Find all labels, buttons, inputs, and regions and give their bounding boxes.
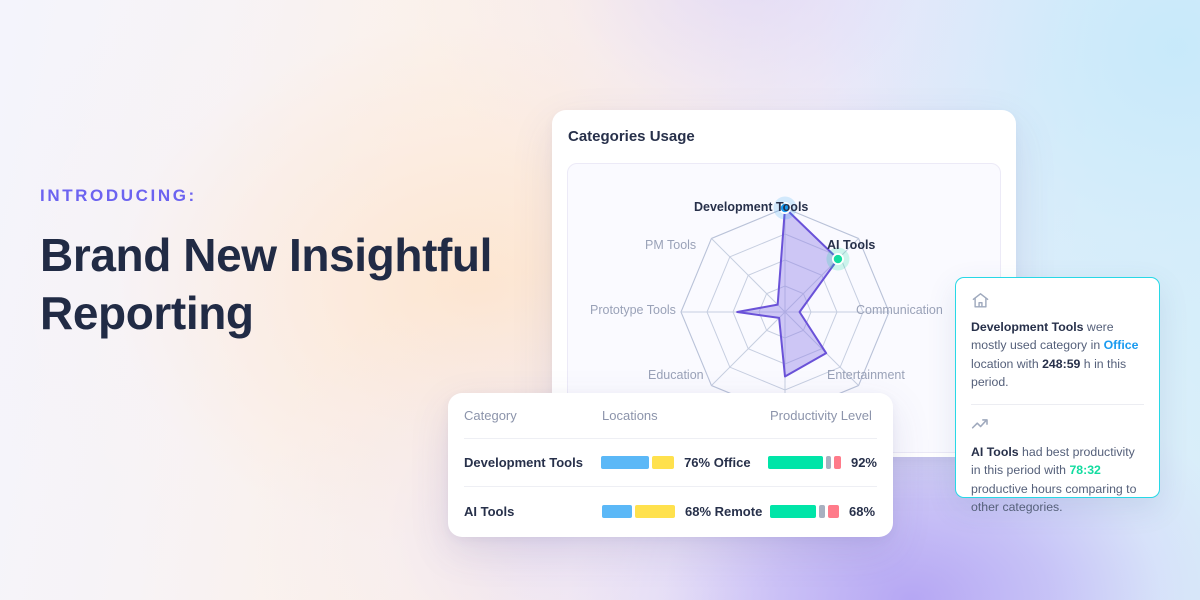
column-header-category: Category: [464, 408, 602, 423]
insight-location-place: Office: [1104, 338, 1139, 352]
productivity-bar: [768, 456, 841, 469]
insight-productivity: AI Tools had best productivity in this p…: [971, 416, 1144, 517]
headline-line-1: Brand New Insightful: [40, 226, 540, 284]
categories-table-card: Category Locations Productivity Level De…: [448, 393, 893, 537]
hero-copy: INTRODUCING: Brand New Insightful Report…: [40, 186, 540, 343]
home-icon: [971, 291, 1144, 311]
locations-label: 76% Office: [684, 455, 750, 470]
locations-label: 68% Remote: [685, 504, 762, 519]
trending-up-icon: [971, 416, 1144, 436]
radar-axis-label-development-tools: Development Tools: [694, 200, 808, 214]
table-row[interactable]: Development Tools 76% Office 92%: [464, 439, 877, 487]
column-header-locations: Locations: [602, 408, 770, 423]
radar-axis-label-pm-tools: PM Tools: [645, 238, 696, 252]
cell-category: Development Tools: [464, 455, 601, 470]
productivity-segment-neutral: [826, 456, 831, 469]
productivity-segment-productive: [770, 505, 816, 518]
locations-segment-remote: [635, 505, 675, 518]
insight-productivity-category: AI Tools: [971, 445, 1019, 459]
cell-category: AI Tools: [464, 504, 602, 519]
cell-locations: 76% Office: [601, 455, 768, 470]
insight-location-mid2: location with: [971, 357, 1042, 371]
insight-productivity-text: AI Tools had best productivity in this p…: [971, 443, 1144, 517]
locations-bar: [602, 505, 675, 518]
productivity-segment-productive: [768, 456, 823, 469]
productivity-label: 92%: [851, 455, 877, 470]
card-title: Categories Usage: [568, 128, 695, 145]
insights-tooltip-card: Development Tools were mostly used categ…: [955, 277, 1160, 498]
productivity-label: 68%: [849, 504, 875, 519]
productivity-bar: [770, 505, 839, 518]
insight-productivity-tail: productive hours comparing to other cate…: [971, 482, 1136, 514]
table-header-row: Category Locations Productivity Level: [464, 393, 877, 439]
table-row[interactable]: AI Tools 68% Remote 68%: [464, 487, 877, 535]
insight-location: Development Tools were mostly used categ…: [971, 291, 1144, 392]
locations-bar: [601, 456, 674, 469]
insight-divider: [971, 404, 1144, 405]
cell-productivity: 92%: [768, 455, 877, 470]
insight-productivity-hours: 78:32: [1069, 463, 1100, 477]
hero-eyebrow: INTRODUCING:: [40, 186, 540, 206]
insight-location-category: Development Tools: [971, 320, 1084, 334]
productivity-segment-unproductive: [828, 505, 839, 518]
locations-segment-office: [602, 505, 632, 518]
locations-segment-office: [601, 456, 649, 469]
radar-axis-label-entertainment: Entertainment: [827, 368, 905, 382]
radar-axis-label-communication: Communication: [856, 303, 943, 317]
cell-productivity: 68%: [770, 504, 877, 519]
cell-locations: 68% Remote: [602, 504, 770, 519]
insight-location-text: Development Tools were mostly used categ…: [971, 318, 1144, 392]
radar-axis-label-prototype-tools: Prototype Tools: [590, 303, 676, 317]
productivity-segment-neutral: [819, 505, 825, 518]
radar-axis-label-ai-tools: AI Tools: [827, 238, 875, 252]
radar-series-usage: [737, 208, 838, 377]
page-title: Brand New Insightful Reporting: [40, 226, 540, 343]
column-header-productivity: Productivity Level: [770, 408, 877, 423]
headline-line-2: Reporting: [40, 284, 540, 342]
insight-location-hours: 248:59: [1042, 357, 1080, 371]
radar-axis-label-education: Education: [648, 368, 704, 382]
productivity-segment-unproductive: [834, 456, 841, 469]
poster-canvas: INTRODUCING: Brand New Insightful Report…: [0, 0, 1200, 600]
locations-segment-remote: [652, 456, 674, 469]
